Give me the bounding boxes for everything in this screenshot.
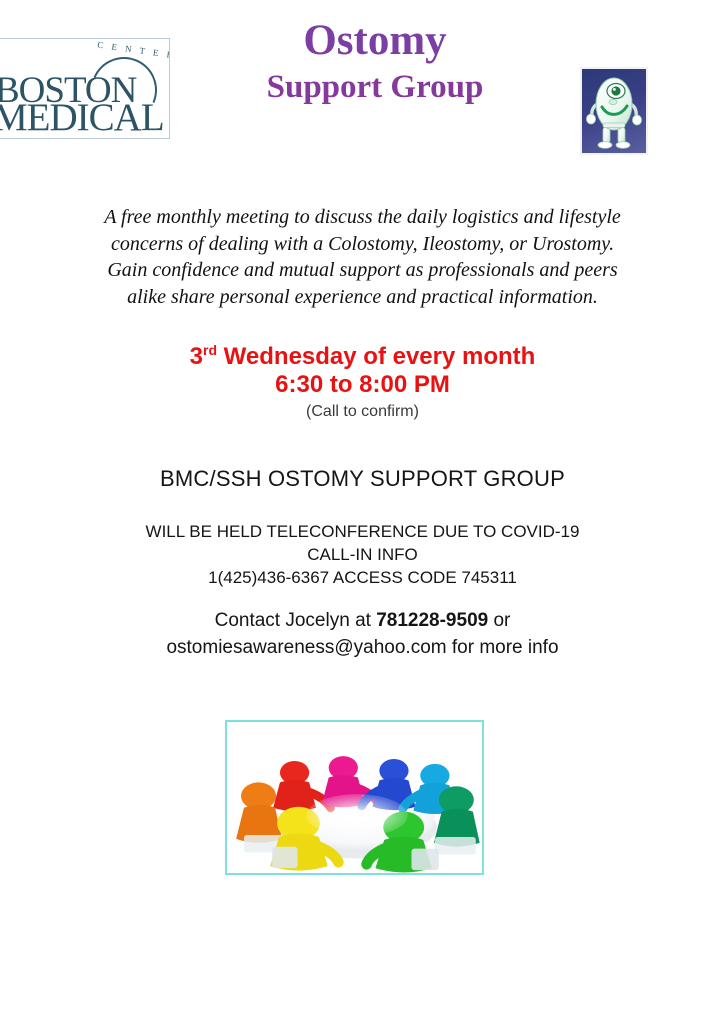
meeting-day-rest: Wednesday of every month: [217, 343, 535, 370]
ostomy-mascot-icon: [580, 67, 648, 155]
intro-line-3: Gain confidence and mutual support as pr…: [40, 257, 685, 284]
teleconference-line-2: CALL-IN INFO: [0, 543, 725, 566]
title-line-ostomy: Ostomy: [180, 18, 570, 63]
logo-word-medical: MEDICAL: [0, 95, 164, 139]
meeting-schedule: 3rd Wednesday of every month 6:30 to 8:0…: [0, 343, 725, 421]
intro-line-4: alike share personal experience and prac…: [40, 284, 685, 311]
intro-line-1: A free monthly meeting to discuss the da…: [40, 204, 685, 231]
boston-medical-center-logo: C E N T E R BOSTON MEDICAL: [0, 38, 170, 139]
contact-info: Contact Jocelyn at 781228-9509 or ostomi…: [0, 608, 725, 661]
contact-phone-line: Contact Jocelyn at 781228-9509 or: [0, 608, 725, 635]
title-line-support-group: Support Group: [180, 69, 570, 105]
contact-prefix: Contact Jocelyn at: [215, 610, 377, 631]
page-title: Ostomy Support Group: [180, 18, 570, 105]
teleconference-line-1: WILL BE HELD TELECONFERENCE DUE TO COVID…: [0, 520, 725, 543]
intro-paragraph: A free monthly meeting to discuss the da…: [40, 204, 685, 310]
contact-conjunction: or: [488, 610, 510, 631]
meeting-day-ordinal: rd: [203, 342, 217, 358]
intro-line-2: concerns of dealing with a Colostomy, Il…: [40, 231, 685, 258]
flyer-header: C E N T E R BOSTON MEDICAL Ostomy Suppor…: [0, 0, 725, 175]
meeting-day-line: 3rd Wednesday of every month: [0, 343, 725, 371]
teleconference-info: WILL BE HELD TELECONFERENCE DUE TO COVID…: [0, 520, 725, 589]
teleconference-dial-in: 1(425)436-6367 ACCESS CODE 745311: [0, 566, 725, 589]
meeting-day-number: 3: [190, 343, 203, 370]
group-name-heading: BMC/SSH OSTOMY SUPPORT GROUP: [0, 466, 725, 492]
support-group-meeting-photo: [225, 720, 484, 875]
meeting-confirm-note: (Call to confirm): [0, 403, 725, 421]
meeting-time-line: 6:30 to 8:00 PM: [0, 371, 725, 399]
contact-phone-number: 781228-9509: [376, 610, 488, 631]
contact-email-line: ostomiesawareness@yahoo.com for more inf…: [0, 635, 725, 662]
